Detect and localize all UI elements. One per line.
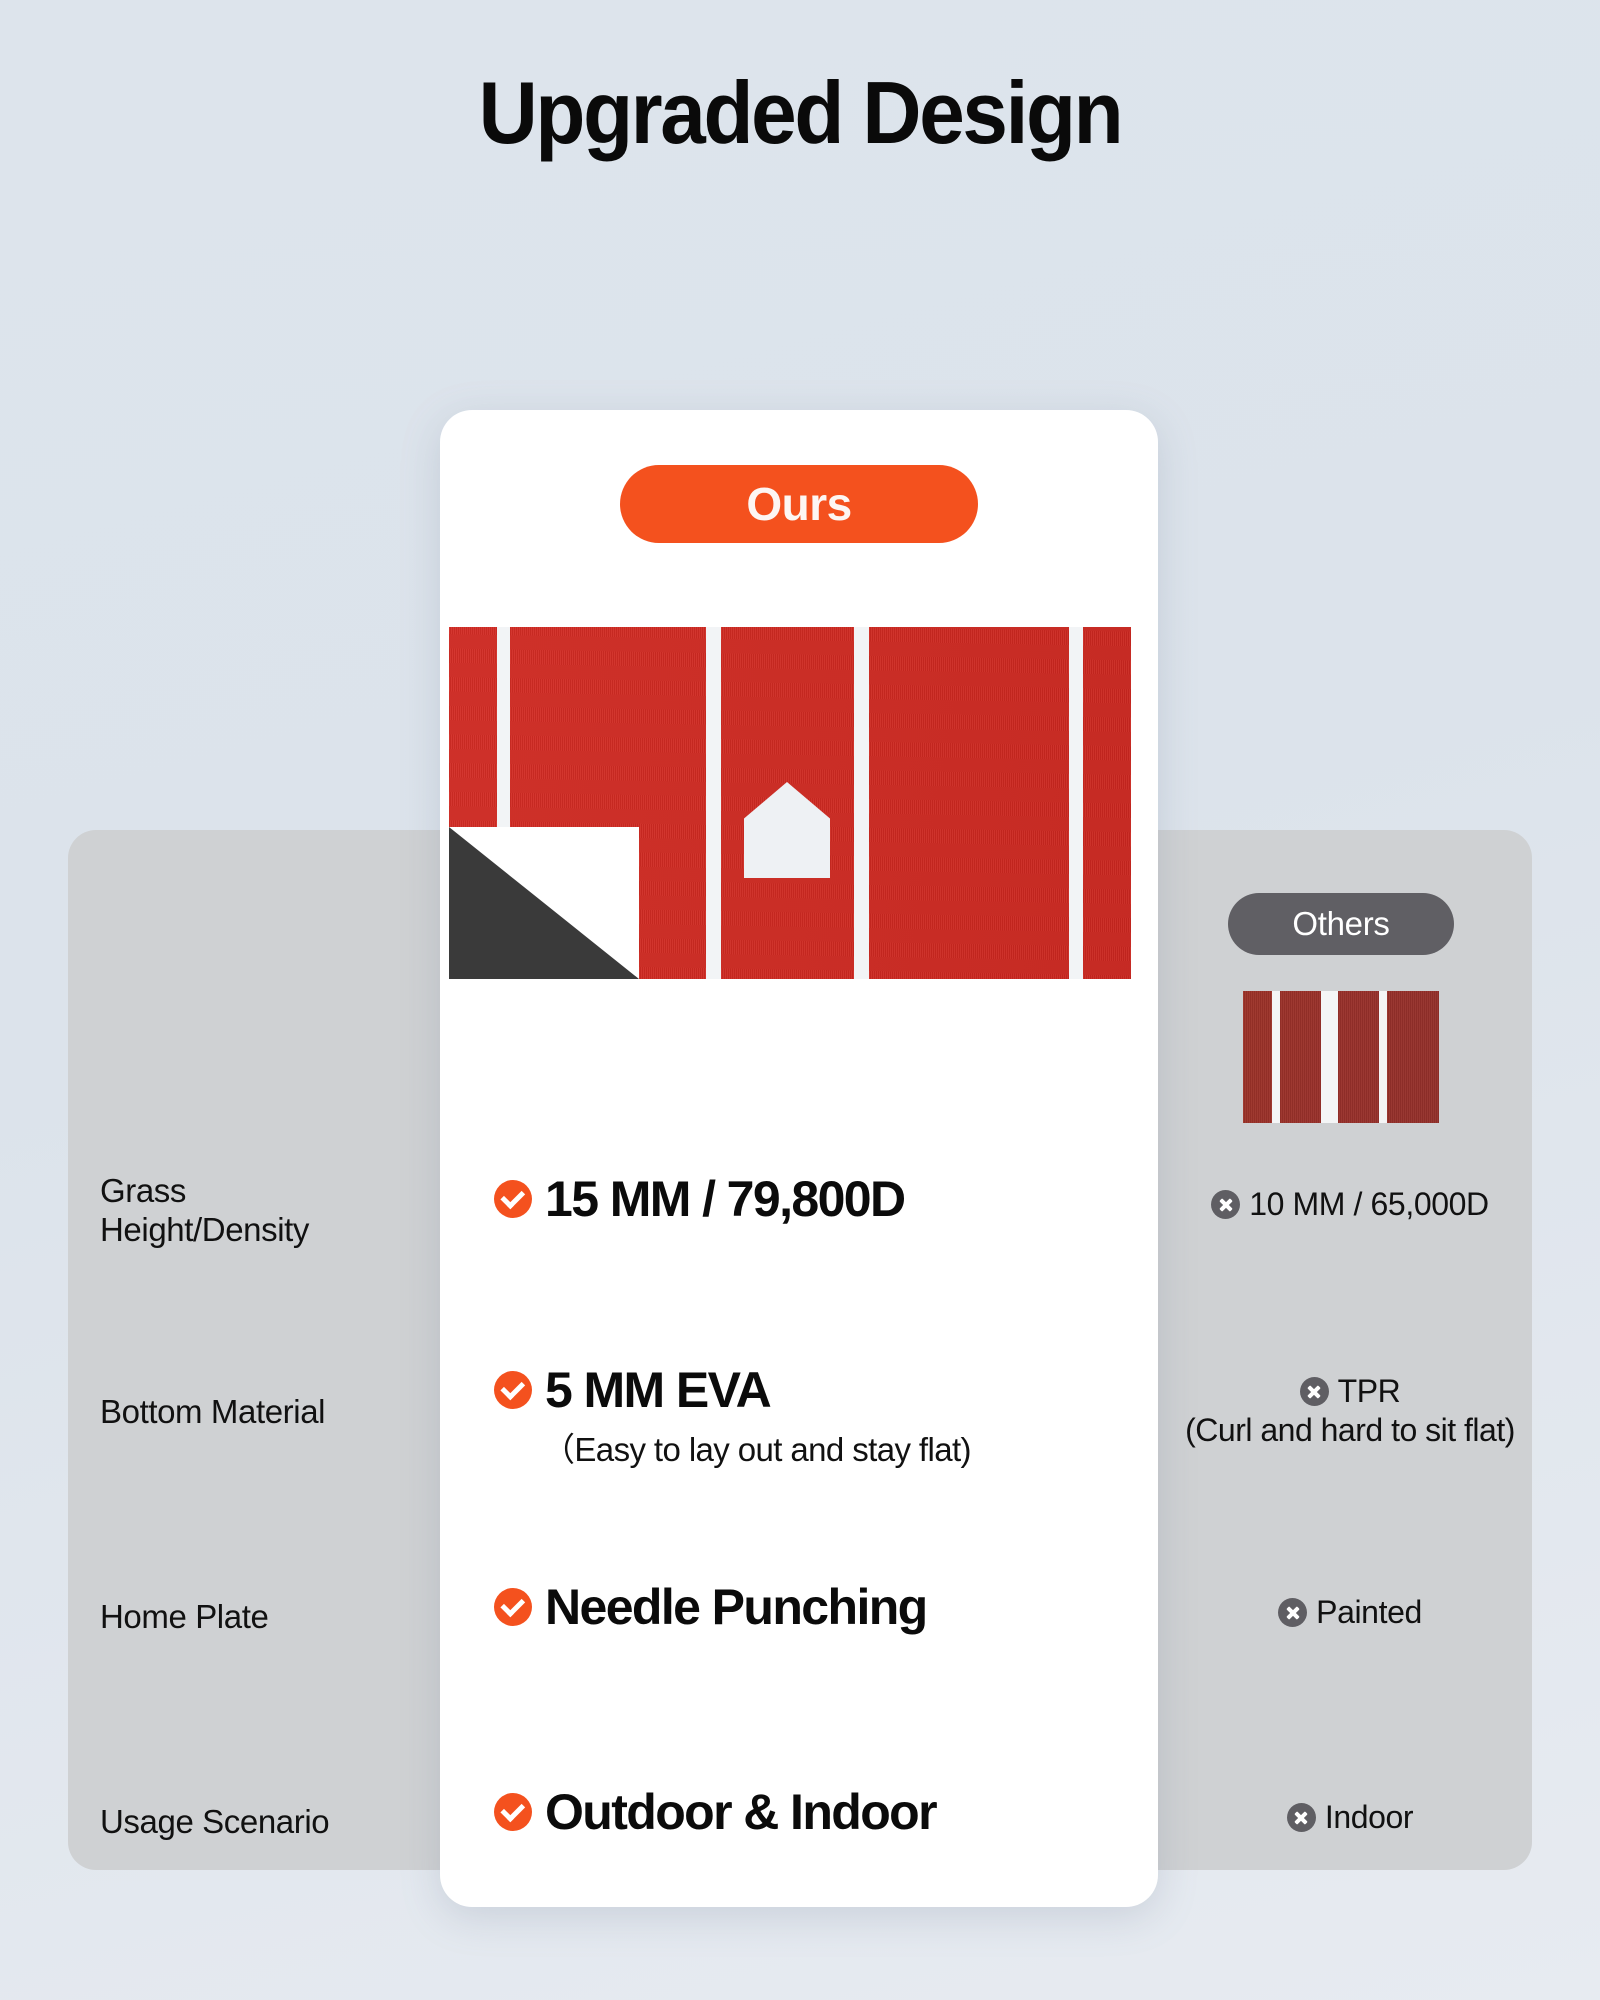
others-value-line: 10 MM / 65,000D: [1168, 1186, 1532, 1223]
row-label-line1: Bottom Material: [100, 1393, 410, 1432]
others-value-line: Painted: [1168, 1594, 1532, 1631]
others-value-note: (Curl and hard to sit flat): [1168, 1412, 1532, 1449]
ours-value-line: Outdoor & Indoor: [494, 1783, 1134, 1841]
check-circle-icon: [494, 1180, 532, 1218]
cross-circle-icon: [1278, 1598, 1307, 1627]
ours-value: Outdoor & Indoor: [545, 1783, 936, 1841]
turf-stripe: [854, 627, 869, 979]
row-label: Bottom Material: [100, 1393, 410, 1432]
ours-value: 15 MM / 79,800D: [545, 1170, 905, 1228]
others-value: Indoor: [1325, 1799, 1413, 1836]
ours-value-group: 15 MM / 79,800D: [494, 1170, 1134, 1228]
others-value-line: Indoor: [1168, 1799, 1532, 1836]
ours-value: Needle Punching: [545, 1578, 927, 1636]
check-circle-icon: [494, 1588, 532, 1626]
others-value-line: TPR: [1168, 1373, 1532, 1410]
ours-value-note: （Easy to lay out and stay flat): [542, 1423, 1134, 1471]
ours-value: 5 MM EVA: [545, 1361, 770, 1419]
turf-stripe: [1069, 627, 1083, 979]
row-label-line2: Height/Density: [100, 1211, 410, 1250]
row-label: Home Plate: [100, 1598, 410, 1637]
cross-circle-icon: [1211, 1190, 1240, 1219]
row-label-line1: Home Plate: [100, 1598, 410, 1637]
row-label: Grass Height/Density: [100, 1172, 410, 1250]
ours-value-group: Outdoor & Indoor: [494, 1783, 1134, 1841]
cross-circle-icon: [1287, 1803, 1316, 1832]
turf-stripe: [706, 627, 721, 979]
ours-value-group: Needle Punching: [494, 1578, 1134, 1636]
others-value: 10 MM / 65,000D: [1249, 1186, 1488, 1223]
others-value-group: TPR (Curl and hard to sit flat): [1168, 1373, 1532, 1449]
others-value-group: Indoor: [1168, 1799, 1532, 1836]
ours-product-image: [449, 627, 1131, 979]
comparison-row: Bottom Material 5 MM EVA （Easy to lay ou…: [0, 1355, 1600, 1560]
comparison-row: Usage Scenario Outdoor & Indoor Indoor: [0, 1765, 1600, 1970]
turf-stripe: [1379, 991, 1387, 1123]
check-circle-icon: [494, 1371, 532, 1409]
comparison-row: Grass Height/Density 15 MM / 79,800D 10 …: [0, 1150, 1600, 1355]
others-value: TPR: [1338, 1373, 1401, 1410]
check-circle-icon: [494, 1793, 532, 1831]
ours-value-line: Needle Punching: [494, 1578, 1134, 1636]
others-product-image: [1243, 991, 1439, 1123]
ours-value-line: 15 MM / 79,800D: [494, 1170, 1134, 1228]
row-label: Usage Scenario: [100, 1803, 410, 1842]
ours-value-line: 5 MM EVA: [494, 1361, 1134, 1419]
row-label-line1: Usage Scenario: [100, 1803, 410, 1842]
others-value-group: Painted: [1168, 1594, 1532, 1631]
comparison-rows: Grass Height/Density 15 MM / 79,800D 10 …: [0, 1150, 1600, 1970]
page-title: Upgraded Design: [56, 62, 1544, 164]
cross-circle-icon: [1300, 1377, 1329, 1406]
others-badge: Others: [1228, 893, 1454, 955]
others-value: Painted: [1316, 1594, 1422, 1631]
comparison-row: Home Plate Needle Punching Painted: [0, 1560, 1600, 1765]
ours-value-group: 5 MM EVA （Easy to lay out and stay flat): [494, 1361, 1134, 1471]
turf-stripe: [1272, 991, 1280, 1123]
ours-badge: Ours: [620, 465, 978, 543]
row-label-line1: Grass: [100, 1172, 410, 1211]
turf-stripe: [1321, 991, 1338, 1123]
others-value-group: 10 MM / 65,000D: [1168, 1186, 1532, 1223]
others-badge-label: Others: [1292, 905, 1389, 943]
ours-badge-label: Ours: [746, 477, 851, 531]
